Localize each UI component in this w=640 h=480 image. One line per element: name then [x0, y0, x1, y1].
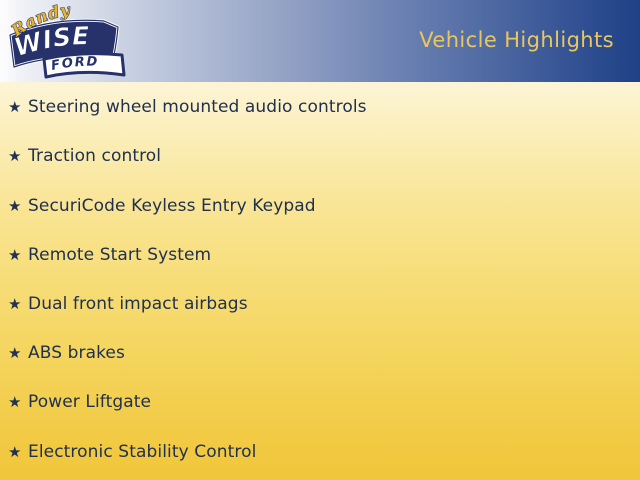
- list-item-label: Remote Start System: [28, 245, 211, 265]
- list-item: ★ Remote Start System: [8, 242, 211, 268]
- list-item-label: Electronic Stability Control: [28, 442, 256, 462]
- list-item-label: Dual front impact airbags: [28, 294, 248, 314]
- list-item-label: Power Liftgate: [28, 392, 151, 412]
- list-item: ★ Power Liftgate: [8, 389, 151, 415]
- vehicle-highlights-list: ★ Steering wheel mounted audio controls …: [0, 82, 640, 480]
- star-icon: ★: [8, 149, 28, 164]
- list-item-label: ABS brakes: [28, 343, 125, 363]
- list-item: ★ Electronic Stability Control: [8, 439, 256, 465]
- star-icon: ★: [8, 346, 28, 361]
- list-item: ★ SecuriCode Keyless Entry Keypad: [8, 193, 316, 219]
- star-icon: ★: [8, 248, 28, 263]
- list-item-label: SecuriCode Keyless Entry Keypad: [28, 196, 316, 216]
- page-title: Vehicle Highlights: [419, 28, 614, 52]
- star-icon: ★: [8, 100, 28, 115]
- star-icon: ★: [8, 395, 28, 410]
- list-item-label: Traction control: [28, 146, 161, 166]
- list-item: ★ ABS brakes: [8, 340, 125, 366]
- list-item: ★ Traction control: [8, 143, 161, 169]
- list-item: ★ Dual front impact airbags: [8, 291, 248, 317]
- star-icon: ★: [8, 199, 28, 214]
- vehicle-highlights-slide: WISE FORD Randy Vehicle Highlights ★ Ste…: [0, 0, 640, 480]
- star-icon: ★: [8, 297, 28, 312]
- star-icon: ★: [8, 445, 28, 460]
- list-item: ★ Steering wheel mounted audio controls: [8, 94, 367, 120]
- header-bar: WISE FORD Randy Vehicle Highlights: [0, 0, 640, 82]
- randy-wise-ford-logo[interactable]: WISE FORD Randy: [4, 1, 136, 81]
- list-item-label: Steering wheel mounted audio controls: [28, 97, 367, 117]
